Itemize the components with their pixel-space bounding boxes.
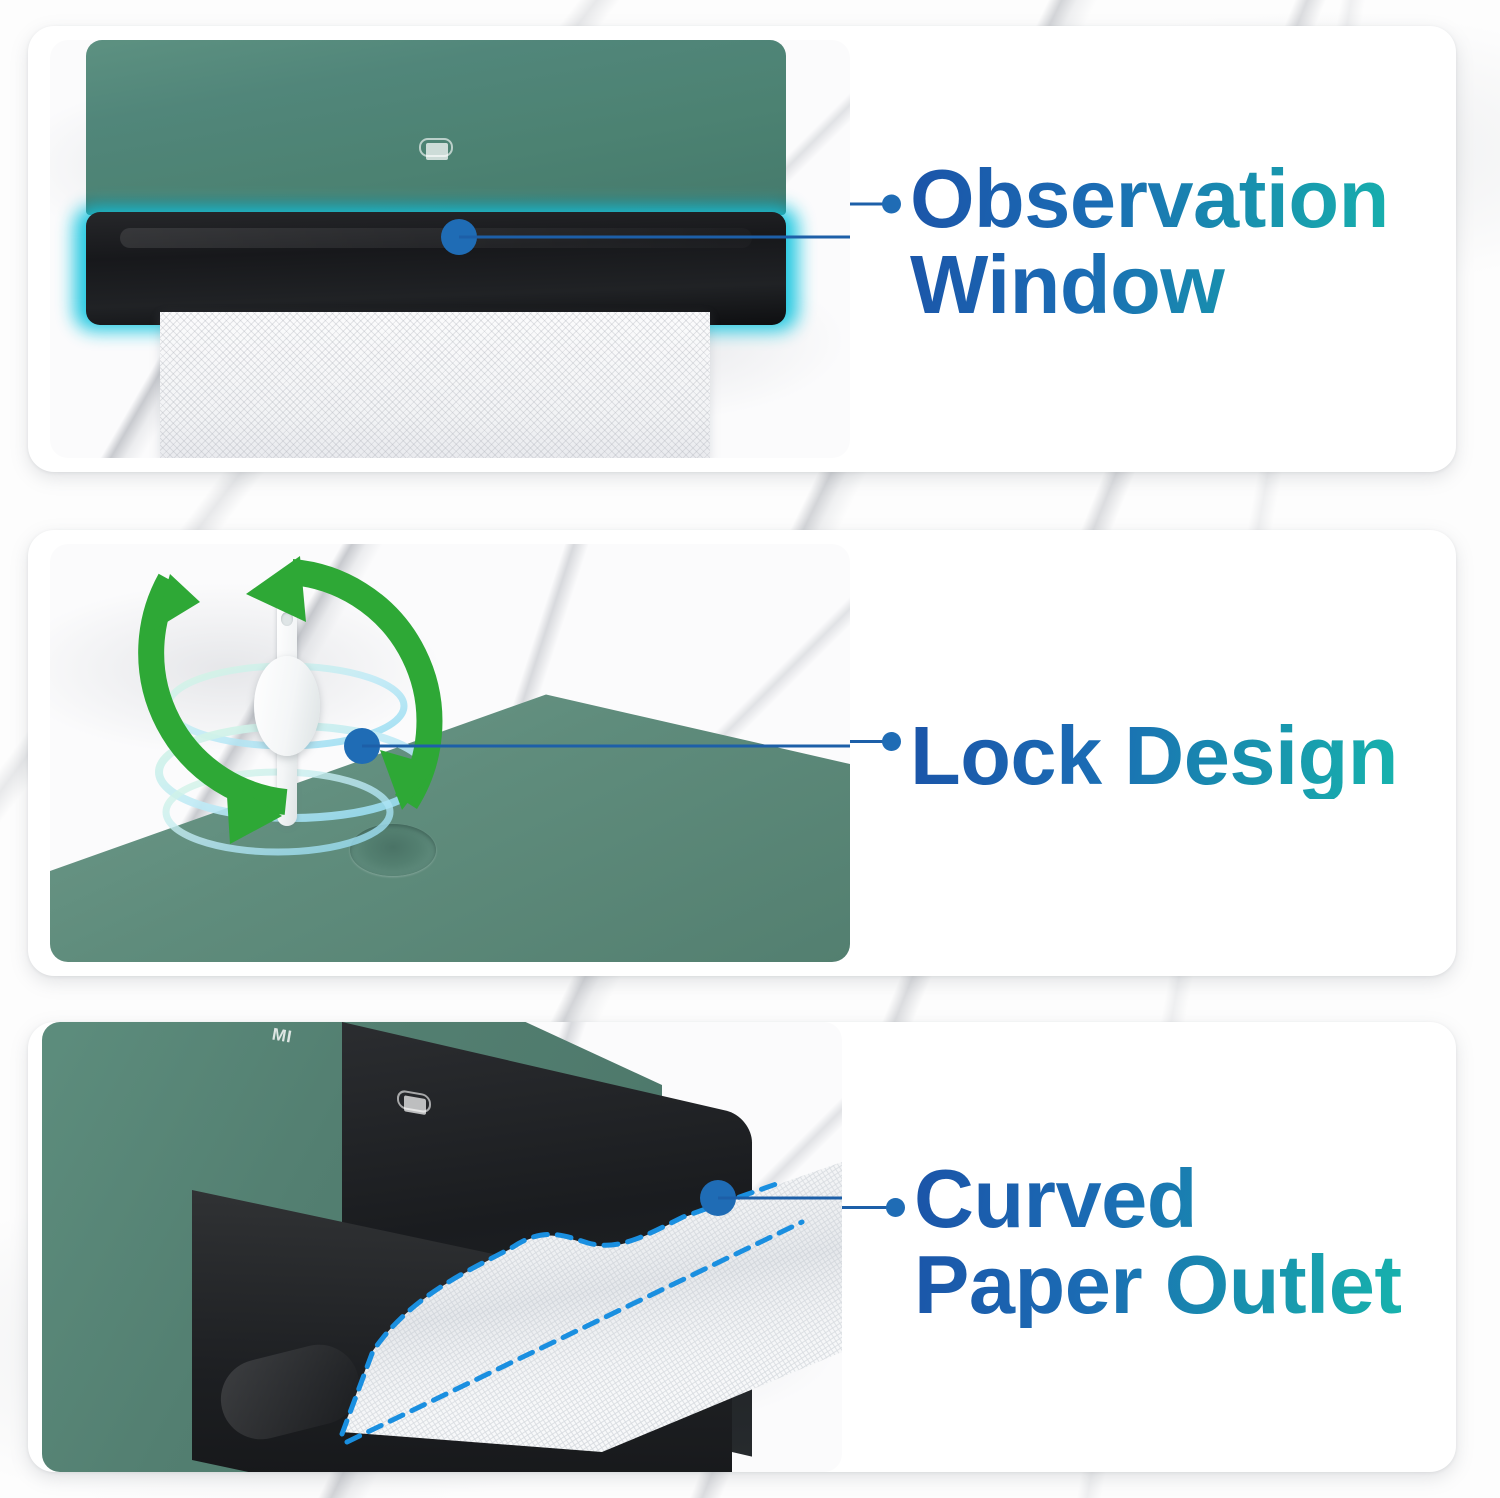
connector-end-dot	[882, 195, 901, 214]
connector-line	[850, 740, 884, 743]
product-photo-lock-design	[50, 544, 850, 962]
label-area-observation-window: Observation Window	[850, 26, 1456, 472]
callout-marker-svg	[42, 1022, 842, 1472]
feature-card-observation-window: Observation Window	[28, 26, 1456, 472]
product-photo-curved-paper-outlet: MI	[42, 1022, 842, 1472]
callout-connector	[842, 1198, 905, 1217]
feature-title-observation-window: Observation Window	[910, 156, 1389, 329]
feature-title-curved-paper-outlet: Curved Paper Outlet	[914, 1156, 1402, 1329]
feature-title-lock-design: Lock Design	[910, 713, 1398, 799]
connector-end-dot	[882, 732, 901, 751]
callout-marker-svg	[50, 40, 850, 458]
connector-line	[842, 1206, 888, 1209]
label-area-lock-design: Lock Design	[850, 530, 1456, 976]
feature-card-curved-paper-outlet: MI	[28, 1022, 1456, 1472]
connector-end-dot	[886, 1198, 905, 1217]
feature-card-lock-design: Lock Design	[28, 530, 1456, 976]
product-photo-observation-window	[50, 40, 850, 458]
connector-line	[850, 203, 884, 206]
label-area-curved-paper-outlet: Curved Paper Outlet	[842, 1022, 1456, 1472]
callout-marker-svg	[50, 544, 850, 962]
callout-connector	[850, 195, 901, 214]
callout-connector	[850, 732, 901, 751]
